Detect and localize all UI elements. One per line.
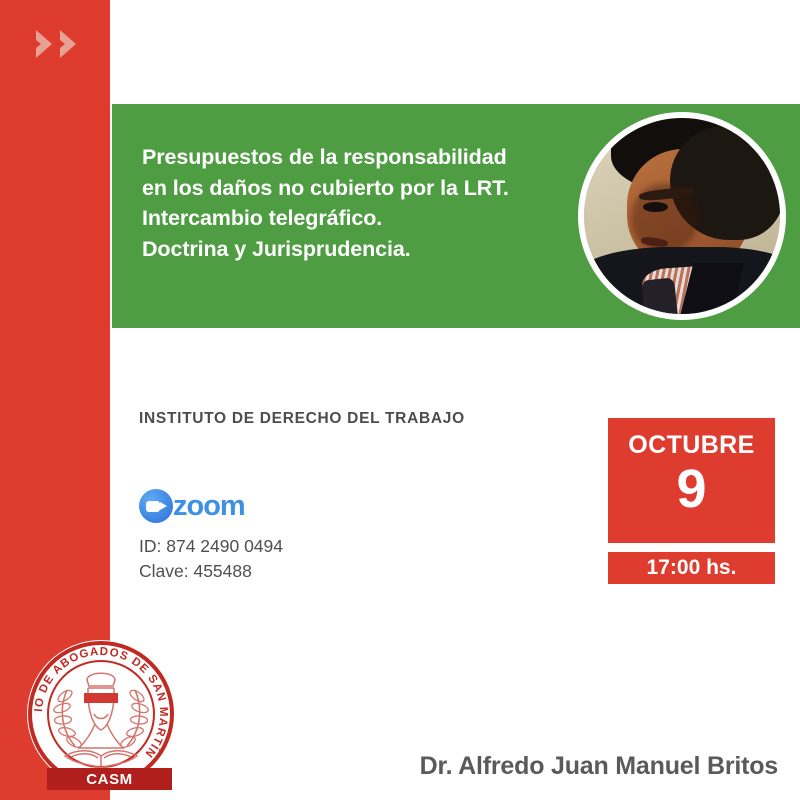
zoom-passcode: Clave: 455488: [139, 561, 252, 582]
speaker-portrait-frame: [578, 112, 786, 320]
time-text: 17:00 hs.: [647, 556, 737, 580]
session-title: Presupuestos de la responsabilidad en lo…: [142, 142, 572, 264]
poster-canvas: Presupuestos de la responsabilidad en lo…: [0, 0, 800, 800]
date-box: OCTUBRE 9: [608, 418, 775, 543]
session-title-line-3: Intercambio telegráfico.: [142, 203, 572, 234]
zoom-camera-lens: [160, 502, 167, 510]
zoom-logo: zoom: [139, 487, 269, 525]
institute-label: INSTITUTO DE DERECHO DEL TRABAJO: [139, 410, 465, 428]
portrait-tie: [641, 277, 678, 314]
session-title-line-2: en los daños no cubierto por la LRT.: [142, 173, 572, 204]
session-title-line-4: Doctrina y Jurisprudencia.: [142, 234, 572, 265]
date-day: 9: [608, 462, 775, 516]
speaker-portrait-photo: [584, 118, 780, 314]
speaker-name: Dr. Alfredo Juan Manuel Britos: [0, 752, 778, 781]
date-month: OCTUBRE: [608, 431, 775, 460]
zoom-meeting-id: ID: 874 2490 0494: [139, 536, 283, 557]
time-box: 17:00 hs.: [608, 552, 775, 584]
zoom-camera-icon: [139, 489, 173, 523]
zoom-wordmark: zoom: [173, 490, 245, 523]
zoom-camera-body: [146, 501, 160, 512]
session-title-line-1: Presupuestos de la responsabilidad: [142, 142, 572, 173]
double-chevron-right-icon: [32, 24, 92, 64]
